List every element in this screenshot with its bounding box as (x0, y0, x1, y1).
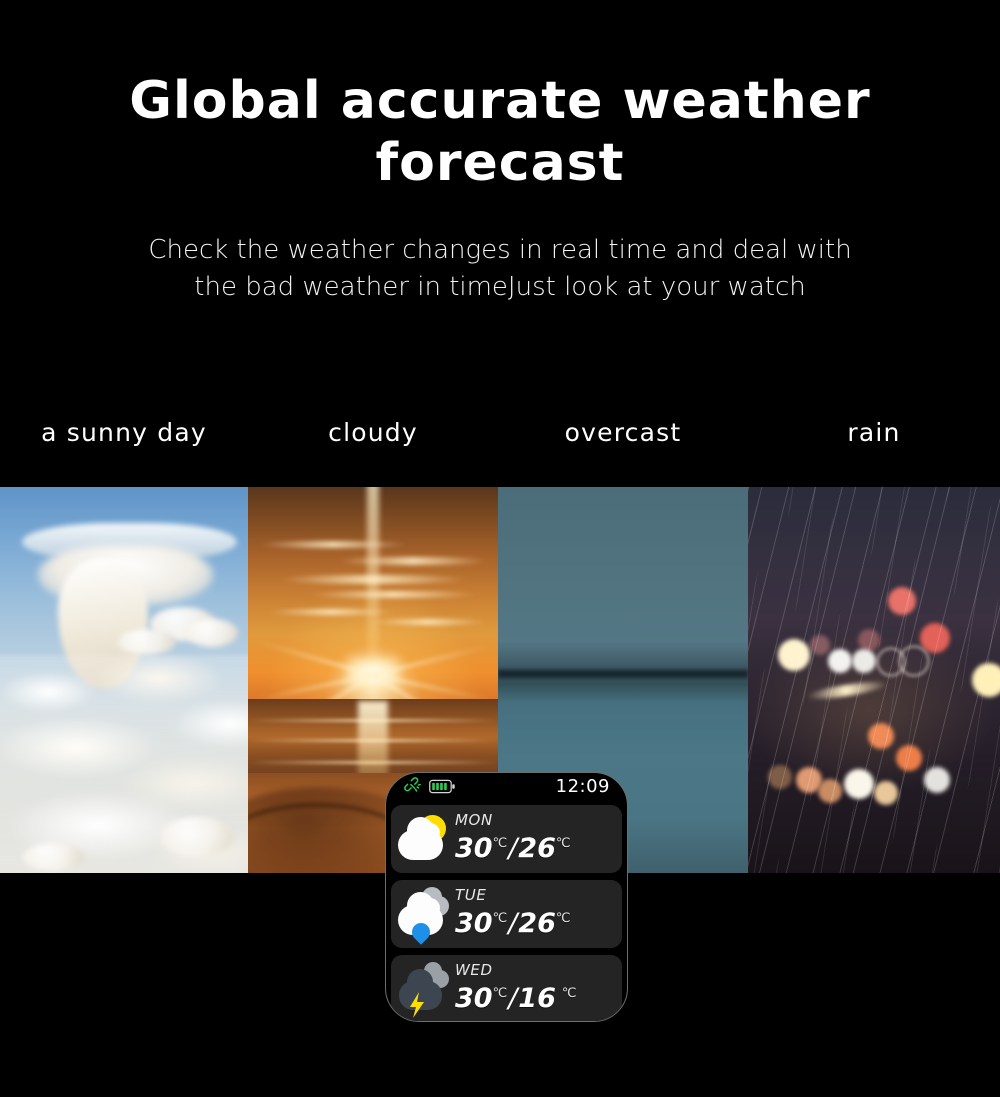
forecast-temperature: 30℃/16℃ (455, 979, 622, 1014)
cloud-streak (308, 591, 478, 598)
battery-full-icon (429, 779, 455, 798)
cloud-streak (266, 609, 396, 615)
forecast-text: MON 30℃/26℃ (455, 812, 622, 864)
weather-label-rain: rain (748, 418, 1000, 447)
cloud-puff (22, 843, 84, 871)
weather-label-overcast: overcast (498, 418, 748, 447)
thunderstorm-cloud-icon (393, 958, 455, 1020)
page-subtitle: Check the weather changes in real time a… (0, 232, 1000, 306)
watch-status-bar: 12:09 (386, 773, 627, 803)
temp-low: 16 (518, 983, 556, 1014)
temp-separator: / (507, 833, 518, 864)
temp-low: 26 (518, 908, 556, 939)
forecast-day-label: MON (455, 812, 622, 829)
temp-low: 26 (518, 833, 556, 864)
horizon-line (498, 669, 748, 679)
temp-separator: / (507, 908, 518, 939)
temp-high: 30 (455, 983, 493, 1014)
forecast-row-mon[interactable]: MON 30℃/26℃ (391, 805, 622, 873)
cloud-streak (368, 619, 488, 625)
weather-label-cloudy: cloudy (248, 418, 498, 447)
photo-sunny-day (0, 487, 248, 873)
temp-low-unit: ℃ (556, 836, 571, 851)
sun-behind-cloud-icon (393, 808, 455, 870)
temp-high: 30 (455, 833, 493, 864)
forecast-list: MON 30℃/26℃ TUE 30℃/26℃ (391, 805, 622, 1022)
temp-high-unit: ℃ (493, 986, 508, 1001)
broken-link-icon (404, 777, 422, 799)
temp-separator: / (507, 983, 518, 1014)
page-title: Global accurate weather forecast (0, 70, 1000, 194)
rain-streaks (748, 487, 1000, 873)
cloud-puff (118, 629, 176, 655)
cloud-shape (398, 830, 443, 860)
forecast-day-label: TUE (455, 887, 622, 904)
weather-label-sunny: a sunny day (0, 418, 248, 447)
forecast-row-tue[interactable]: TUE 30℃/26℃ (391, 880, 622, 948)
cloud-puff (160, 817, 234, 857)
cloud-streak (278, 575, 468, 584)
temp-high-unit: ℃ (493, 911, 508, 926)
lightning-bolt-shape (409, 992, 425, 1018)
temp-high-unit: ℃ (493, 836, 508, 851)
forecast-temperature: 30℃/26℃ (455, 829, 622, 864)
cloud-puff (186, 619, 238, 647)
cloud-streak (338, 557, 488, 565)
forecast-text: TUE 30℃/26℃ (455, 887, 622, 939)
temp-high: 30 (455, 908, 493, 939)
weather-condition-labels: a sunny day cloudy overcast rain (0, 418, 1000, 458)
photo-rain (748, 487, 1000, 873)
temp-low-unit: ℃ (562, 986, 577, 1001)
cloud-with-raindrop-icon (393, 883, 455, 945)
watch-clock: 12:09 (556, 776, 610, 797)
forecast-day-label: WED (455, 962, 622, 979)
forecast-temperature: 30℃/26℃ (455, 904, 622, 939)
smartwatch-weather-widget[interactable]: 12:09 MON 30℃/26℃ TUE 30℃/26℃ (385, 772, 628, 1022)
status-icons (404, 777, 455, 799)
forecast-text: WED 30℃/16℃ (455, 962, 622, 1014)
temp-low-unit: ℃ (556, 911, 571, 926)
cloud-streak (258, 541, 408, 548)
forecast-row-wed[interactable]: WED 30℃/16℃ (391, 955, 622, 1022)
